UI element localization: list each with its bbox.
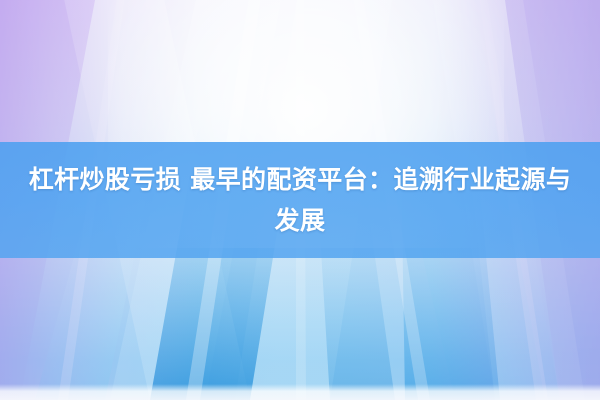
headline-band: 杠杆炒股亏损 最早的配资平台：追溯行业起源与发展 (0, 142, 600, 258)
bottom-light-strip (0, 384, 600, 400)
banner-image: 杠杆炒股亏损 最早的配资平台：追溯行业起源与发展 (0, 0, 600, 400)
headline-text: 杠杆炒股亏损 最早的配资平台：追溯行业起源与发展 (18, 159, 582, 241)
